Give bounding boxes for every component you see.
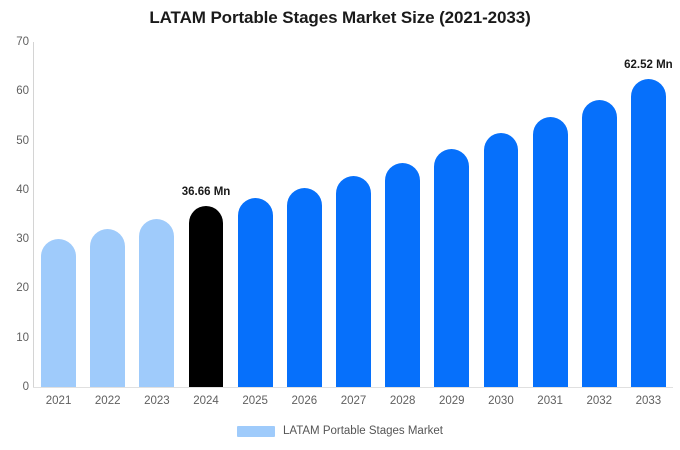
bar-slot bbox=[90, 42, 125, 387]
y-axis-tick: 70 bbox=[3, 36, 29, 48]
x-axis-tick-2031: 2031 bbox=[526, 395, 575, 407]
y-axis-tick: 40 bbox=[3, 184, 29, 196]
bar-2026[interactable] bbox=[287, 188, 322, 387]
bar-slot bbox=[336, 42, 371, 387]
bar-slot bbox=[238, 42, 273, 387]
x-axis-tick-2027: 2027 bbox=[329, 395, 378, 407]
x-axis-tick-2032: 2032 bbox=[575, 395, 624, 407]
x-axis-tick-2023: 2023 bbox=[132, 395, 181, 407]
y-axis-tick: 30 bbox=[3, 233, 29, 245]
y-axis-tick-labels: 010203040506070 bbox=[0, 42, 29, 387]
y-axis-tick: 10 bbox=[3, 332, 29, 344]
bar-slot bbox=[41, 42, 76, 387]
x-axis-tick-2026: 2026 bbox=[280, 395, 329, 407]
y-axis-tick: 50 bbox=[3, 135, 29, 147]
bar-chart: LATAM Portable Stages Market Size (2021-… bbox=[0, 0, 680, 450]
bar-slot bbox=[139, 42, 174, 387]
x-axis-tick-2028: 2028 bbox=[378, 395, 427, 407]
x-axis-tick-2030: 2030 bbox=[476, 395, 525, 407]
x-axis-tick-2021: 2021 bbox=[34, 395, 83, 407]
bar-value-label-2024: 36.66 Mn bbox=[182, 186, 231, 198]
x-axis-tick-2025: 2025 bbox=[231, 395, 280, 407]
bar-slot bbox=[434, 42, 469, 387]
y-axis-tick: 0 bbox=[3, 381, 29, 393]
x-axis-tick-labels: 2021202220232024202520262027202820292030… bbox=[34, 395, 673, 415]
legend-label: LATAM Portable Stages Market bbox=[283, 425, 443, 437]
bar-slot: 36.66 Mn bbox=[189, 42, 224, 387]
x-axis-tick-2033: 2033 bbox=[624, 395, 673, 407]
bar-slot: 62.52 Mn bbox=[631, 42, 666, 387]
chart-title: LATAM Portable Stages Market Size (2021-… bbox=[0, 8, 680, 28]
bar-2029[interactable] bbox=[434, 149, 469, 387]
bar-value-label-2033: 62.52 Mn bbox=[624, 59, 673, 71]
y-axis-tick: 20 bbox=[3, 282, 29, 294]
x-axis-tick-2024: 2024 bbox=[181, 395, 230, 407]
bar-slot bbox=[484, 42, 519, 387]
bar-2031[interactable] bbox=[533, 117, 568, 387]
bar-2032[interactable] bbox=[582, 100, 617, 387]
bar-2021[interactable] bbox=[41, 239, 76, 387]
bar-2022[interactable] bbox=[90, 229, 125, 387]
bar-2024[interactable] bbox=[189, 206, 224, 387]
bar-2030[interactable] bbox=[484, 133, 519, 387]
bar-2033[interactable] bbox=[631, 79, 666, 387]
bar-slot bbox=[533, 42, 568, 387]
bar-slot bbox=[582, 42, 617, 387]
bar-slot bbox=[287, 42, 322, 387]
x-axis-line bbox=[33, 387, 673, 388]
bar-2023[interactable] bbox=[139, 219, 174, 387]
y-axis-tick: 60 bbox=[3, 85, 29, 97]
x-axis-tick-2029: 2029 bbox=[427, 395, 476, 407]
bar-slot bbox=[385, 42, 420, 387]
bar-2028[interactable] bbox=[385, 163, 420, 387]
chart-legend: LATAM Portable Stages Market bbox=[0, 425, 680, 437]
legend-swatch-icon bbox=[237, 426, 275, 437]
bar-2025[interactable] bbox=[238, 198, 273, 387]
legend-item[interactable]: LATAM Portable Stages Market bbox=[237, 425, 443, 437]
bar-2027[interactable] bbox=[336, 176, 371, 387]
x-axis-tick-2022: 2022 bbox=[83, 395, 132, 407]
bars-layer: 36.66 Mn62.52 Mn bbox=[34, 42, 673, 387]
